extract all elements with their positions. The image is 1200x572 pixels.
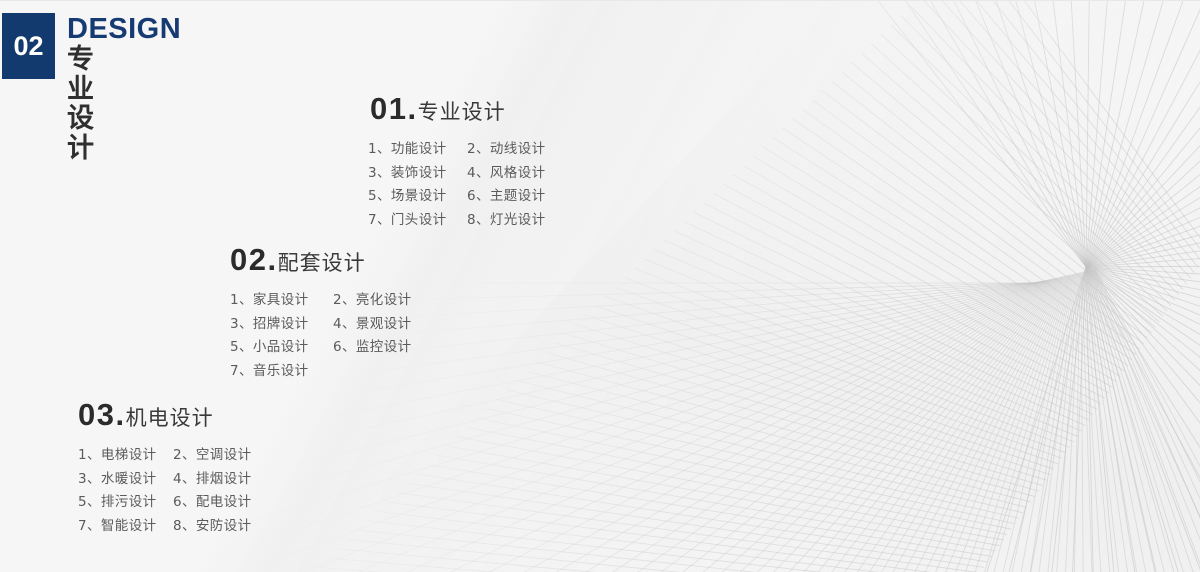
list-row: 3、招牌设计 4、景观设计	[230, 313, 412, 337]
list-item: 7、音乐设计	[230, 360, 333, 384]
list-item: 1、功能设计	[368, 138, 467, 162]
list-item: 8、安防设计	[173, 515, 252, 539]
page-title-en: DESIGN	[67, 15, 181, 44]
list-item: 8、灯光设计	[467, 209, 546, 233]
block-2-heading: 02.配套设计	[230, 244, 412, 275]
list-item: 5、场景设计	[368, 185, 467, 209]
list-item: 1、家具设计	[230, 289, 333, 313]
list-item: 7、智能设计	[78, 515, 173, 539]
block-2-number: 02.	[230, 242, 278, 277]
list-item: 7、门头设计	[368, 209, 467, 233]
list-row: 3、水暖设计 4、排烟设计	[78, 468, 252, 492]
list-row: 1、功能设计 2、动线设计	[368, 138, 546, 162]
list-row: 7、音乐设计	[230, 360, 412, 384]
block-1-name: 专业设计	[418, 100, 506, 124]
list-item: 6、配电设计	[173, 491, 252, 515]
block-3-heading: 03.机电设计	[78, 399, 252, 430]
list-item: 2、亮化设计	[333, 289, 412, 313]
list-row: 5、小品设计 6、监控设计	[230, 336, 412, 360]
list-item: 3、水暖设计	[78, 468, 173, 492]
slide-canvas: 02 DESIGN 专业设计 01.专业设计 1、功能设计 2、动线设计 3、装…	[0, 0, 1200, 572]
block-1-number: 01.	[370, 91, 418, 126]
block-3-number: 03.	[78, 397, 126, 432]
list-item: 6、监控设计	[333, 336, 412, 360]
list-row: 5、场景设计 6、主题设计	[368, 185, 546, 209]
content-block-1: 01.专业设计 1、功能设计 2、动线设计 3、装饰设计 4、风格设计 5、场景…	[370, 93, 546, 232]
content-block-2: 02.配套设计 1、家具设计 2、亮化设计 3、招牌设计 4、景观设计 5、小品…	[230, 244, 412, 383]
content-block-3: 03.机电设计 1、电梯设计 2、空调设计 3、水暖设计 4、排烟设计 5、排污…	[78, 399, 252, 538]
list-item: 4、景观设计	[333, 313, 412, 337]
list-item: 2、空调设计	[173, 444, 252, 468]
block-1-heading: 01.专业设计	[370, 93, 546, 124]
list-row: 7、智能设计 8、安防设计	[78, 515, 252, 539]
list-item: 3、招牌设计	[230, 313, 333, 337]
list-item: 6、主题设计	[467, 185, 546, 209]
list-row: 1、家具设计 2、亮化设计	[230, 289, 412, 313]
list-row: 3、装饰设计 4、风格设计	[368, 162, 546, 186]
list-item: 4、排烟设计	[173, 468, 252, 492]
block-3-list: 1、电梯设计 2、空调设计 3、水暖设计 4、排烟设计 5、排污设计 6、配电设…	[78, 444, 252, 538]
block-2-name: 配套设计	[278, 251, 366, 275]
block-3-name: 机电设计	[126, 406, 214, 430]
list-item: 4、风格设计	[467, 162, 546, 186]
list-item: 1、电梯设计	[78, 444, 173, 468]
page-title-cn: 专业设计	[67, 45, 95, 164]
block-2-list: 1、家具设计 2、亮化设计 3、招牌设计 4、景观设计 5、小品设计 6、监控设…	[230, 289, 412, 383]
list-item: 3、装饰设计	[368, 162, 467, 186]
list-item: 2、动线设计	[467, 138, 546, 162]
list-item: 5、排污设计	[78, 491, 173, 515]
block-1-list: 1、功能设计 2、动线设计 3、装饰设计 4、风格设计 5、场景设计 6、主题设…	[368, 138, 546, 232]
list-row: 5、排污设计 6、配电设计	[78, 491, 252, 515]
list-row: 1、电梯设计 2、空调设计	[78, 444, 252, 468]
list-item: 5、小品设计	[230, 336, 333, 360]
list-row: 7、门头设计 8、灯光设计	[368, 209, 546, 233]
section-index-badge: 02	[2, 13, 55, 79]
